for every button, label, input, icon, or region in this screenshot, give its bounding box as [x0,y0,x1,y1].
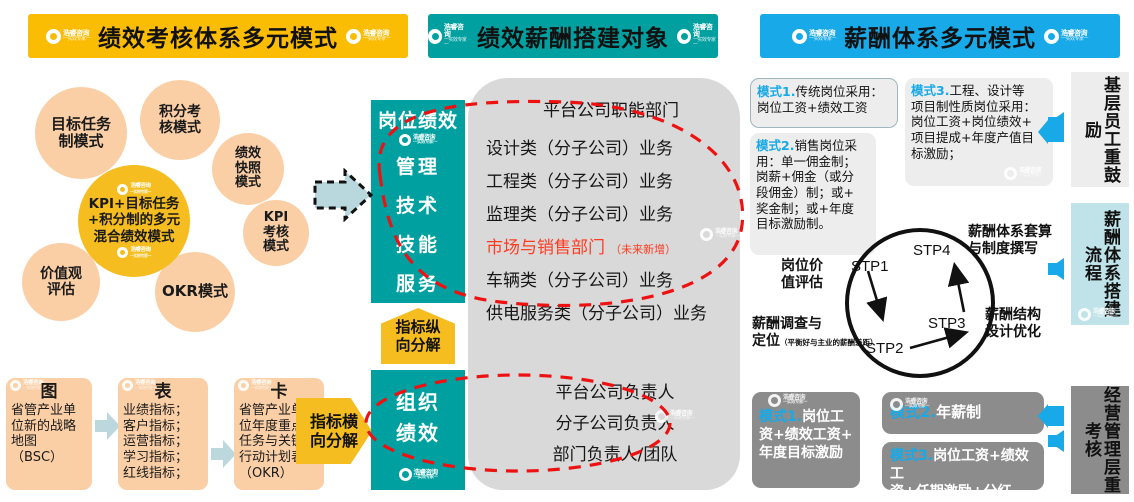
brand-logo-icon: 浩睿咨询一实效专家一 [399,468,438,481]
arrow-label-line: 指标横 [310,412,358,431]
flow-card-badge: 卡 [239,382,319,403]
cycle-label-line: 薪酬调查与 [752,316,842,333]
mode-line: 年薪制 [936,403,981,421]
position-list-item-highlight: 市场与销售部门 [486,238,605,258]
flow-card-line: 位新的战略 [11,419,87,435]
flow-card-line: 地图 [11,434,87,450]
side-label-text: 经营管理层重考核 [1081,386,1119,494]
mode-line: 项目提成+年度产值目 [911,130,1047,146]
brand-logo-icon: 浩睿咨询一实效专家一 [768,394,807,407]
cycle-label-line: 设计优化 [985,324,1041,341]
mode-line: 岗位工资+绩效工资 [757,100,891,116]
mode-line: 标激励； [911,146,1047,162]
flow-card-line: 红线指标； [123,466,203,482]
cycle-step-1: STP1 [851,258,889,275]
position-list-item: 设计类（分子公司）业务 [486,134,736,159]
mode-line: 项目制性质岗位采用： [911,99,1047,115]
panel-header-right: 浩睿咨询一实效专家一 薪酬体系多元模式 浩睿咨询一实效专家一 [760,14,1120,58]
brand-logo-text-2: 一实效专家一 [130,190,151,194]
side-arrow-3-icon [1048,430,1064,452]
mode-tag: 模式1. [757,84,795,99]
flow-arrow-2-icon [211,440,236,468]
position-item: 服务 [396,269,440,296]
mode-line: 奖金制；或+年度 [756,201,870,217]
org-performance-title-line: 组织 [396,386,440,415]
flow-card-line: 省管产业单 [11,403,87,419]
org-list-item: 平台公司负责人 [505,378,725,403]
cycle-step-3: STP3 [928,315,966,332]
brand-logo-text-2: 一实效专家一 [413,141,437,146]
side-label-management[interactable]: 经营管理层重考核 [1071,386,1129,494]
flow-card-line: 学习指标； [123,450,203,466]
brand-logo-text-2: 一实效专家一 [414,476,438,481]
org-list-item: 部门负责人/团队 [505,440,725,465]
brand-logo-text-2: 一实效专家一 [1019,174,1043,179]
panel-title-right: 薪酬体系多元模式 [844,19,1036,53]
satellite-line: 评估 [47,282,75,298]
mode-line: 资+绩效工资+ [759,426,853,444]
side-label-text: 薪酬体系搭建流程 [1081,203,1119,325]
mode-tag: 模式2. [890,403,936,421]
mode-box-bottom-3[interactable]: 模式3.岗位工资+绩效工 资+任期激励+分红 [882,442,1044,490]
side-arrow-2-icon [1048,258,1064,280]
arrow-to-mode-bottom-icon [1038,404,1064,428]
flow-card-line: 运营指标； [123,434,203,450]
mode-line: 段佣金）制；或+ [756,185,870,201]
brand-logo-icon: 浩睿咨询一实效专家一 [346,29,390,44]
satellite-line: 积分考 [159,104,201,120]
brand-logo-text-2: 一实效专家一 [693,38,718,48]
satellite-line: OKR模式 [162,283,228,300]
position-performance-block[interactable]: 岗位绩效 浩睿咨询一实效专家一 管理 技术 技能 服务 [371,100,465,303]
brand-logo-text-2: 一实效专家一 [1061,37,1088,42]
flow-card-map[interactable]: 图 省管产业单 位新的战略 地图 （BSC） [6,378,92,490]
position-item: 管理 [396,152,440,179]
position-item: 技能 [396,230,440,257]
flow-card-line: 客户指标； [123,419,203,435]
brand-logo-text-2: 一实效专家一 [444,38,469,48]
brand-logo-text-2: 一实效专家一 [783,401,807,406]
position-list-item: 供电服务类（分子公司）业务 [486,299,736,324]
mode-line: 销售岗位采 [794,138,857,153]
cycle-label-line: 定位 [752,333,780,349]
satellite-line: 核模式 [159,120,201,136]
flow-card-badge: 图 [11,382,87,403]
mode-tag: 模式2. [756,138,794,153]
position-list-item: 车辆类（分子公司）业务 [486,266,736,291]
side-label-process[interactable]: 薪酬体系搭建流程 [1071,203,1129,325]
mode-line: 年度目标激励 [759,444,853,462]
brand-logo-text-2: 一实效专家一 [363,37,390,42]
org-list-item: 分子公司负责人 [505,409,725,434]
satellite-circle-performance-snapshot[interactable]: 绩效 快照 模式 [212,133,284,205]
satellite-line: 模式 [235,176,261,191]
mode-box-bottom-2[interactable]: 模式2.年薪制 浩睿咨询一实效专家一 [882,392,1044,434]
flow-card-badge: 表 [123,382,203,403]
brand-logo-text-1: 浩睿咨询 [783,395,807,401]
brand-logo-icon: 浩睿咨询一实效专家一 [117,184,151,195]
flow-card-line: （BSC） [11,450,87,466]
mode-line: 用：单一佣金制； [756,154,870,170]
flow-arrow-1-icon [95,412,120,440]
cycle-label-salary-survey: 薪酬调查与 定位（平衡好与主业的薪酬差距） [752,316,842,350]
org-performance-block[interactable]: 组织 绩效 浩睿咨询一实效专家一 [371,370,465,490]
side-label-frontline[interactable]: 基层员工重鼓励 [1071,72,1129,187]
cycle-label-line: 值评估 [781,275,823,292]
mode-box-top-1[interactable]: 模式1.传统岗位采用： 岗位工资+绩效工资 [750,78,898,128]
panel-header-middle: 浩睿咨询一实效专家一 绩效薪酬搭建对象 浩睿咨询一实效专家一 [428,14,718,58]
satellite-line: 绩效 [235,147,261,162]
mode-line: 岗位工 [802,409,844,425]
horizontal-decomposition-arrow: 指标横 向分解 [296,398,372,464]
satellite-circle-points-assessment[interactable]: 积分考 核模式 [140,80,220,160]
flow-card-indicators[interactable]: 表 业绩指标； 客户指标； 运营指标； 学习指标； 红线指标； [118,378,208,490]
org-list: 平台公司负责人 分子公司负责人 部门负责人/团队 [505,378,725,465]
brand-logo-text-1: 浩睿咨询 [693,24,718,38]
brand-logo-text-2: 一实效专家一 [63,37,90,42]
satellite-line: 模式 [263,240,289,255]
brand-logo-icon: 浩睿咨询一实效专家一 [792,29,836,44]
brand-logo-text-2: 一实效专家一 [130,254,151,258]
mode-box-top-3[interactable]: 模式3.工程、设计等 项目制性质岗位采用： 岗位工资+岗位绩效+ 项目提成+年度… [905,78,1053,186]
mode-line: 资+任期激励+分红 [890,483,1036,501]
brand-logo-icon: 浩睿咨询一实效专家一 [1044,29,1088,44]
side-label-text: 基层员工重鼓励 [1081,72,1119,187]
position-list-item-note: （未来新增） [610,243,676,256]
brand-logo-text-1: 浩睿咨询 [1019,168,1043,174]
mode-tag: 模式1. [759,409,802,425]
flow-card-line: 业绩指标； [123,403,203,419]
org-performance-title-line: 绩效 [396,417,440,446]
center-circle-hybrid-model[interactable]: 浩睿咨询一实效专家一 KPI+目标任务 +积分制的多元 混合绩效模式 浩睿咨询一… [78,165,190,277]
brand-logo-icon: 浩睿咨询一实效专家一 [399,134,437,146]
cycle-label-job-evaluation: 岗位价 值评估 [781,258,823,292]
satellite-line: KPI [264,211,288,226]
brand-logo-icon: 浩睿咨询一实效专家一 [1004,167,1043,180]
brand-logo-icon: 浩睿咨询一实效专家一 [677,24,718,48]
cycle-label-line: 薪酬结构 [985,307,1041,324]
center-circle-line: 混合绩效模式 [94,230,175,246]
cycle-label-system-calc: 薪酬体系套算 与制度撰写 [968,224,1052,258]
brand-logo-text-2: 一实效专家一 [809,37,836,42]
vertical-decomposition-arrow: 指标纵 向分解 [381,308,455,364]
cycle-label-line: 与制度撰写 [968,241,1052,258]
arrow-label-line: 向分解 [395,336,440,354]
panel-title-left: 绩效考核体系多元模式 [98,19,338,53]
position-list-item: 监理类（分子公司）业务 [486,200,736,225]
position-list-item: 平台公司职能部门 [486,96,736,121]
dashed-arrow-icon [313,168,375,222]
panel-header-left: 浩睿咨询一实效专家一 绩效考核体系多元模式 浩睿咨询一实效专家一 [28,14,408,58]
satellite-circle-kpi-assessment[interactable]: KPI 考核 模式 [243,200,309,266]
cycle-label-structure-design: 薪酬结构 设计优化 [985,307,1041,341]
position-list-item: 工程类（分子公司）业务 [486,167,736,192]
mode-tag: 模式3. [911,83,949,98]
arrow-label-line: 向分解 [310,431,358,450]
brand-logo-icon: 浩睿咨询一实效专家一 [117,247,151,258]
arrow-label-line: 指标纵 [395,318,440,336]
brand-logo-text-1: 浩睿咨询 [444,24,469,38]
cycle-step-4: STP4 [913,242,951,259]
cycle-label-line: 岗位价 [781,258,823,275]
panel-title-middle: 绩效薪酬搭建对象 [477,19,669,53]
mode-box-bottom-1[interactable]: 模式1.岗位工 资+绩效工资+ 年度目标激励 浩睿咨询一实效专家一 [752,392,860,488]
mode-line: 岗薪+佣金（或分 [756,169,870,185]
center-circle-line: +积分制的多元 [88,213,180,229]
position-performance-title: 岗位绩效 [378,106,458,133]
mode-line: 工程、设计等 [949,83,1024,98]
position-list: 平台公司职能部门 设计类（分子公司）业务 工程类（分子公司）业务 监理类（分子公… [486,96,736,324]
mode-line: 岗位工资+岗位绩效+ [911,114,1047,130]
satellite-line: 目标任务 [51,116,111,133]
center-circle-line: KPI+目标任务 [89,197,180,213]
satellite-line: 制模式 [58,133,103,150]
mode-line: 传统岗位采用： [795,84,883,99]
cycle-label-line: 薪酬体系套算 [968,224,1052,241]
brand-logo-icon: 浩睿咨询一实效专家一 [428,24,469,48]
mode-tag: 模式3. [890,448,933,464]
arrow-to-mode3-icon [1038,120,1064,144]
satellite-circle-target-task[interactable]: 目标任务 制模式 [35,87,127,179]
flow-card-line: （OKR） [239,466,319,482]
satellite-line: 价值观 [40,266,82,282]
position-item: 技术 [396,191,440,218]
cycle-label-note: （平衡好与主业的薪酬差距） [780,338,878,347]
brand-logo-icon: 浩睿咨询一实效专家一 [46,29,90,44]
